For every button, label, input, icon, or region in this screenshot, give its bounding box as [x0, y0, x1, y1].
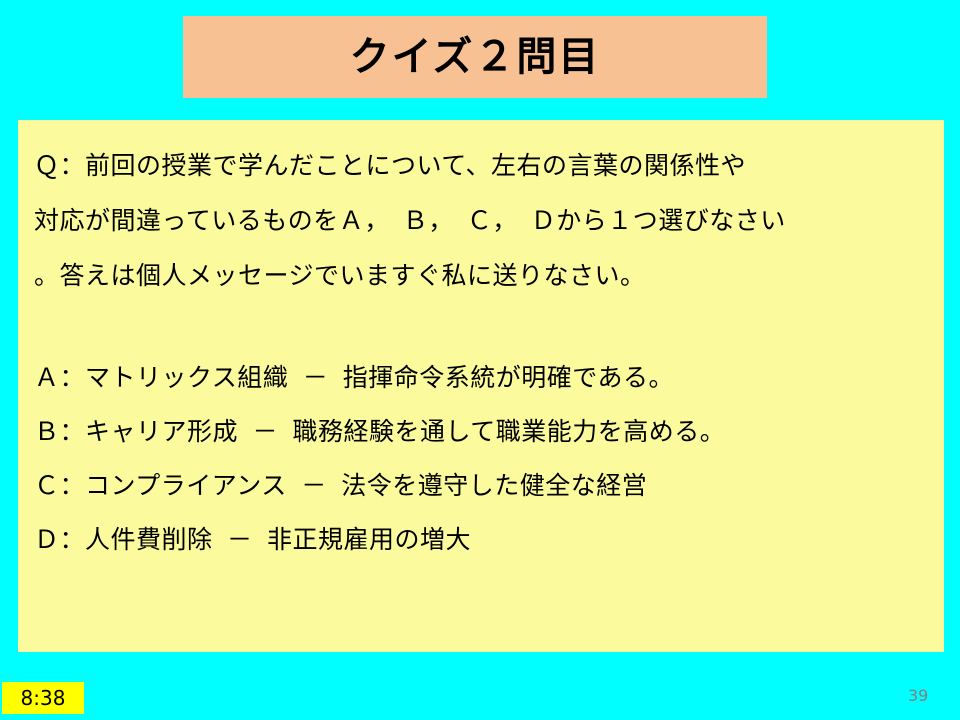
option-value: 職務経験を通して職業能力を高める。	[292, 417, 725, 446]
slide-canvas: クイズ２問目 Ｑ：前回の授業で学んだことについて、左右の言葉の関係性や 対応が間…	[0, 0, 960, 720]
option-label: Ｂ：キャリア形成	[34, 417, 238, 446]
quiz-option-c[interactable]: Ｃ：コンプライアンス － 法令を遵守した健全な経営	[34, 459, 928, 513]
quiz-option-b[interactable]: Ｂ：キャリア形成 － 職務経験を通して職業能力を高める。	[34, 405, 928, 459]
option-separator: －	[246, 417, 284, 446]
question-block: Ｑ：前回の授業で学んだことについて、左右の言葉の関係性や 対応が間違っているもの…	[34, 138, 928, 303]
quiz-content-box: Ｑ：前回の授業で学んだことについて、左右の言葉の関係性や 対応が間違っているもの…	[18, 120, 944, 652]
option-separator: －	[295, 471, 333, 500]
option-value: 非正規雇用の増大	[267, 525, 471, 554]
option-label: Ｄ：人件費削除	[34, 525, 213, 554]
question-line: 対応が間違っているものをＡ， Ｂ， Ｃ， Ｄから１つ選びなさい	[34, 193, 928, 248]
option-label: Ｃ：コンプライアンス	[34, 471, 287, 500]
time-text: 8:38	[21, 688, 66, 708]
quiz-option-d[interactable]: Ｄ：人件費削除 － 非正規雇用の増大	[34, 513, 928, 567]
question-line: Ｑ：前回の授業で学んだことについて、左右の言葉の関係性や	[34, 138, 928, 193]
option-value: 法令を遵守した健全な経営	[341, 471, 647, 500]
question-options-spacer	[34, 303, 928, 351]
question-line: 。答えは個人メッセージでいますぐ私に送りなさい。	[34, 248, 928, 303]
page-number: 39	[908, 688, 928, 704]
option-label: Ａ：マトリックス組織	[34, 363, 288, 392]
time-badge: 8:38	[2, 682, 84, 714]
quiz-option-a[interactable]: Ａ：マトリックス組織 － 指揮命令系統が明確である。	[34, 351, 928, 405]
option-separator: －	[221, 525, 259, 554]
option-separator: －	[297, 363, 335, 392]
option-value: 指揮命令系統が明確である。	[343, 363, 674, 392]
page-title: クイズ２問目	[350, 37, 601, 77]
title-banner: クイズ２問目	[183, 16, 767, 98]
